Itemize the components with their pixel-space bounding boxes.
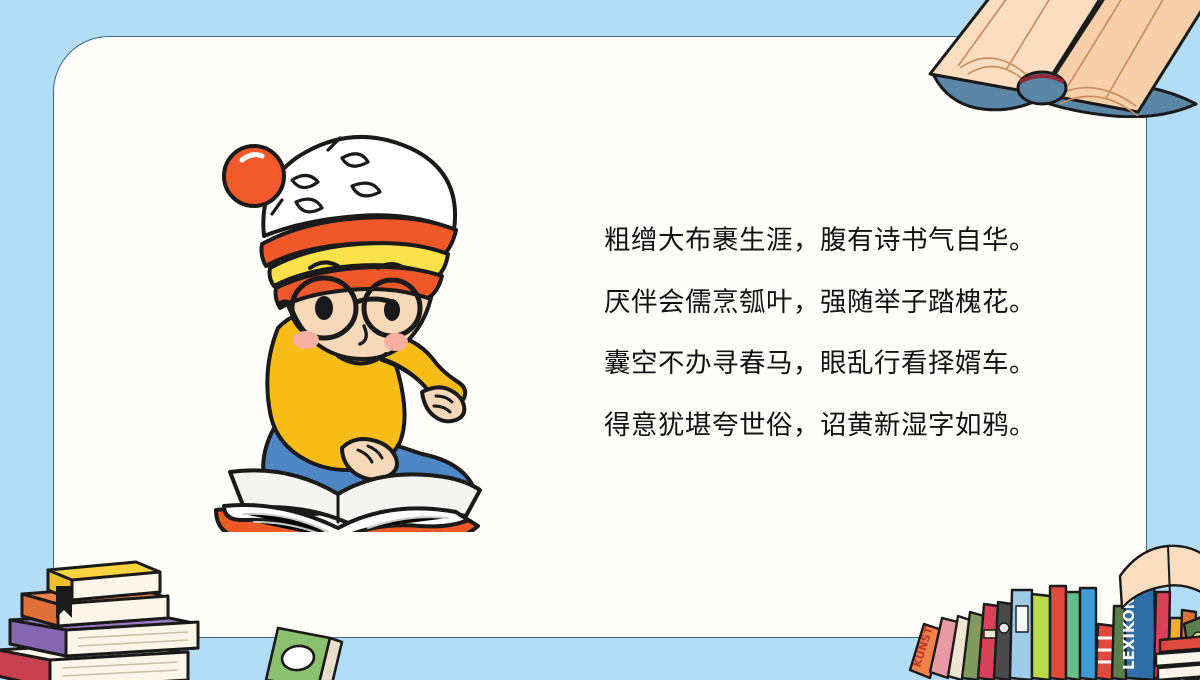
poem-line: 得意犹堪夸世俗，诏黄新湿字如鸦。 [604,413,1064,440]
timestamp-label: 2021/07/18 [94,638,186,656]
poem-line: 囊空不办寻春马，眼乱行看择婿车。 [604,351,1064,378]
poem-line: 粗缯大布裹生涯，腹有诗书气自华。 [604,228,1064,255]
slide-canvas: 粗缯大布裹生涯，腹有诗书气自华。 厌伴会儒烹瓠叶，强随举子踏槐花。 囊空不办寻春… [0,0,1200,680]
poem-block: 粗缯大布裹生涯，腹有诗书气自华。 厌伴会儒烹瓠叶，强随举子踏槐花。 囊空不办寻春… [604,228,1064,439]
poem-line: 厌伴会儒烹瓠叶，强随举子踏槐花。 [604,290,1064,317]
